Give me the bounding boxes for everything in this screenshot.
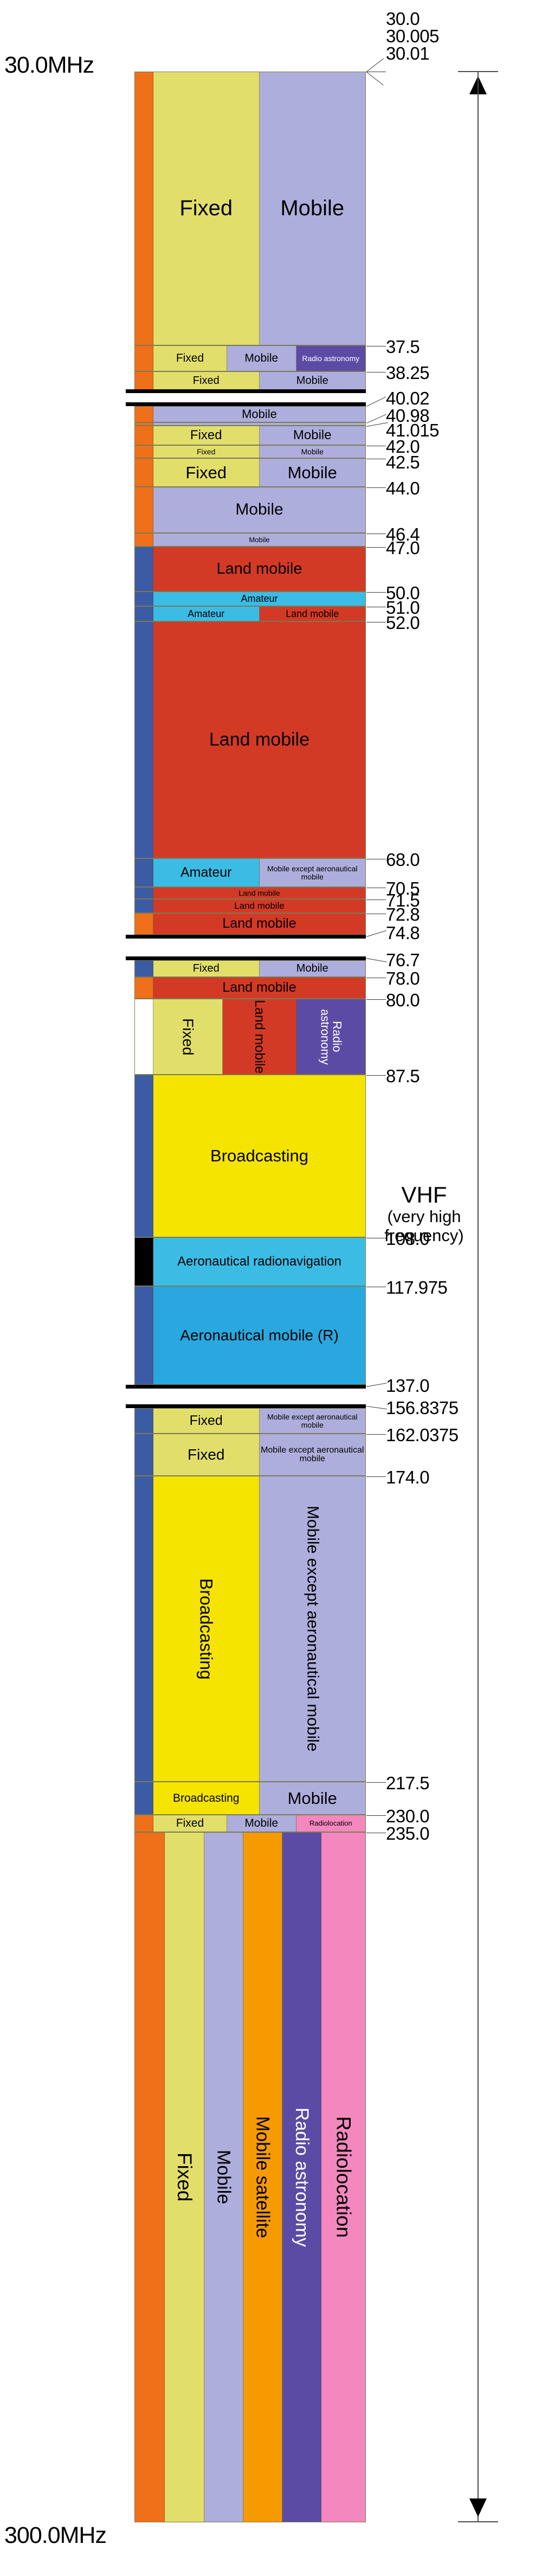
band-cell-land-mobile: Land mobile: [153, 900, 365, 913]
band-cell-land-mobile: Land mobile: [153, 914, 365, 934]
band-marker: [135, 1815, 153, 1832]
band-235.0-300.0[interactable]: Fixed Mobile Mobile satellite Radio astr…: [134, 1832, 366, 2522]
band-cell-aeronautical-radionavigation: Aeronautical radionavigation: [153, 1238, 365, 1286]
band-cell-broadcasting: Broadcasting: [153, 1476, 260, 1781]
band-cell-mobile: Mobile: [153, 534, 365, 546]
tick-leader: [366, 978, 386, 978]
tick-156.8375: 156.8375: [386, 1398, 459, 1418]
tick-leader: [366, 958, 387, 962]
band-cell-mobile: Mobile: [260, 72, 366, 345]
vhf-bracket-label: VHF (very high frequency): [374, 1182, 474, 1245]
band-cell-land-mobile: Land mobile: [153, 978, 365, 998]
tick-leader: [366, 1383, 387, 1387]
band-78.0-80.0[interactable]: Land mobile: [134, 977, 366, 999]
band-cell-mobile: Mobile: [260, 1782, 366, 1814]
band-cell-land-mobile: Land mobile: [153, 547, 365, 591]
tick-leader: [366, 346, 386, 346]
band-cell-radio-astronomy: Radio astronomy: [296, 346, 366, 371]
tick-leader: [366, 1815, 386, 1816]
band-46.4-47.0[interactable]: Mobile: [134, 533, 366, 547]
band-87.5-108.0[interactable]: Broadcasting: [134, 1075, 366, 1237]
band-cell-fixed: Fixed: [153, 999, 223, 1074]
tick-leader: [366, 534, 386, 534]
band-42.5-44.0[interactable]: Fixed Mobile: [134, 458, 366, 487]
tick-76.7: 76.7: [386, 950, 420, 971]
tick-leader: [366, 930, 386, 937]
band-cell-fixed: Fixed: [153, 426, 260, 445]
band-marker: [135, 372, 153, 390]
band-162.0375-174.0[interactable]: Fixed Mobile except aeronautical mobile: [134, 1434, 366, 1476]
tick-117.975: 117.975: [386, 1277, 447, 1298]
band-cell-mobile: Mobile: [260, 372, 366, 390]
tick-leader: [366, 58, 384, 72]
tick-38.25: 38.25: [386, 363, 429, 383]
band-cell-mobile: Mobile: [227, 346, 296, 371]
tick-leader: [366, 1476, 386, 1477]
tick-47.0: 47.0: [386, 538, 420, 558]
band-marker: [135, 423, 153, 425]
band-42.0-42.5[interactable]: Fixed Mobile: [134, 445, 366, 458]
band-cell-mobile-satellite: Mobile satellite: [243, 1833, 282, 2522]
band-cell-radiolocation: Radiolocation: [321, 1833, 365, 2522]
band-group-divider: [126, 1404, 366, 1408]
band-cell-land-mobile: Land mobile: [260, 607, 366, 621]
tick-217.5: 217.5: [386, 1773, 429, 1794]
band-cell-mobile: Mobile: [227, 1815, 296, 1832]
band-30.005-37.5[interactable]: Fixed Mobile: [134, 72, 366, 345]
band-marker: [135, 1287, 153, 1384]
band-marker: [135, 1409, 153, 1433]
band-marker: [135, 900, 153, 913]
band-marker: [135, 487, 153, 532]
vhf-abbreviation: VHF: [374, 1182, 474, 1207]
band-cell-mobile: Mobile: [204, 1833, 243, 2522]
axis-top-label: 30.0MHz: [4, 52, 94, 79]
band-cell-mobile: [153, 423, 365, 425]
tick-leader: [366, 1434, 386, 1435]
tick-30.01: 30.01: [386, 43, 429, 64]
tick-leader: [366, 1833, 386, 1833]
band-marker: [135, 407, 153, 422]
band-cell-radiolocation: Radiolocation: [296, 1815, 366, 1832]
tick-78.0: 78.0: [386, 968, 420, 989]
tick-68.0: 68.0: [386, 850, 420, 870]
band-cell-fixed: Fixed: [153, 1409, 260, 1433]
vhf-full-name: (very high frequency): [374, 1207, 474, 1245]
tick-leader: [366, 487, 386, 488]
band-41.015-42.0[interactable]: Fixed Mobile: [134, 426, 366, 445]
tick-leader: [366, 459, 386, 459]
band-marker: [135, 1782, 153, 1814]
tick-leader: [366, 372, 386, 372]
chart-canvas: 30.0MHz 300.0MHz Fixed Mobile Fixed Mobi…: [0, 0, 542, 2576]
tick-leader: [366, 607, 386, 607]
band-cell-fixed: Fixed: [153, 346, 227, 371]
axis-bottom-label: 300.0MHz: [4, 2522, 106, 2549]
tick-137.0: 137.0: [386, 1376, 429, 1396]
band-cell-fixed: Fixed: [153, 459, 260, 486]
band-68.0-70.5[interactable]: Amateur Mobile except aeronautical mobil…: [134, 858, 366, 887]
band-marker: [135, 622, 153, 858]
tick-80.0: 80.0: [386, 990, 420, 1011]
band-marker: [135, 459, 153, 486]
band-marker: [135, 426, 153, 445]
band-cell-broadcasting: Broadcasting: [153, 1782, 260, 1814]
band-230.0-235.0[interactable]: Fixed Mobile Radiolocation: [134, 1815, 366, 1832]
tick-leader: [366, 1406, 387, 1409]
band-108.0-117.975[interactable]: Aeronautical radionavigation: [134, 1237, 366, 1286]
tick-72.8: 72.8: [386, 904, 420, 925]
tick-leader: [366, 446, 386, 446]
band-38.25-40.02[interactable]: Fixed Mobile: [134, 371, 366, 390]
band-cell-fixed: Fixed: [153, 446, 260, 458]
tick-leader: [366, 422, 388, 427]
band-marker: [135, 888, 153, 898]
band-cell-fixed: Fixed: [153, 961, 260, 977]
band-cell-land-mobile: Land mobile: [153, 622, 365, 858]
tick-leader: [366, 396, 386, 406]
band-51.0-52.0[interactable]: Amateur Land mobile: [134, 606, 366, 621]
band-group-divider: [126, 1385, 366, 1389]
band-cell-mobile: Mobile: [260, 426, 366, 445]
tick-leader: [366, 72, 386, 72]
band-cell-amateur: Amateur: [153, 859, 260, 886]
band-217.5-230.0[interactable]: Broadcasting Mobile: [134, 1782, 366, 1815]
band-cell-mobile: Mobile: [260, 446, 366, 458]
band-marker: [135, 961, 153, 977]
band-marker: [135, 999, 153, 1074]
band-cell-mobile: Mobile: [260, 459, 366, 486]
tick-leader: [366, 914, 386, 914]
tick-leader: [366, 592, 386, 593]
band-cell-mobile-except-aeronautical: Mobile except aeronautical mobile: [260, 1476, 366, 1781]
band-cell-land-mobile: Land mobile: [153, 888, 365, 898]
band-cell-mobile: Mobile: [260, 961, 366, 977]
band-marker: [135, 607, 153, 621]
tick-174.0: 174.0: [386, 1467, 429, 1488]
band-cell-mobile-except-aeronautical: Mobile except aeronautical mobile: [260, 1409, 366, 1433]
band-group-divider: [126, 956, 366, 960]
bracket-cap-bottom: [458, 2521, 498, 2522]
band-cell-amateur: Amateur: [153, 592, 365, 606]
band-marker: [135, 534, 153, 546]
arrow-down-icon: [469, 2498, 487, 2517]
band-cell-radio-astronomy: Radio astronomy: [282, 1833, 321, 2522]
band-70.5-71.5[interactable]: Land mobile: [134, 887, 366, 899]
band-76.7-78.0[interactable]: Fixed Mobile: [134, 960, 366, 977]
tick-leader: [366, 999, 386, 1000]
tick-leader: [366, 622, 386, 622]
band-40.02-40.98[interactable]: Mobile: [134, 406, 366, 422]
tick-leader: [366, 900, 386, 900]
band-80.0-87.5[interactable]: Fixed Land mobile Radio astronomy: [134, 999, 366, 1075]
tick-leader: [366, 1782, 386, 1783]
band-group-divider: [126, 402, 366, 406]
band-cell-amateur: Amateur: [153, 607, 260, 621]
band-cell-broadcasting: Broadcasting: [153, 1075, 365, 1237]
tick-leader: [366, 547, 386, 548]
band-group-divider: [126, 935, 366, 939]
band-marker: [135, 978, 153, 998]
tick-44.0: 44.0: [386, 478, 420, 499]
band-cell-fixed: Fixed: [165, 1833, 204, 2522]
band-cell-mobile: Mobile: [153, 487, 365, 532]
band-marker: [135, 1833, 165, 2522]
band-174.0-217.5[interactable]: Broadcasting Mobile except aeronautical …: [134, 1476, 366, 1782]
band-47.0-50.0[interactable]: Land mobile: [134, 547, 366, 592]
band-50.0-51.0[interactable]: Amateur: [134, 592, 366, 606]
band-group-divider: [126, 389, 366, 393]
band-marker: [135, 859, 153, 886]
band-156.8375-162.0375[interactable]: Fixed Mobile except aeronautical mobile: [134, 1408, 366, 1434]
band-cell-radio-astronomy: Radio astronomy: [296, 999, 366, 1074]
tick-42.5: 42.5: [386, 452, 420, 473]
band-cell-mobile: Mobile: [153, 407, 365, 422]
band-marker: [135, 72, 153, 345]
tick-52.0: 52.0: [386, 613, 420, 633]
band-71.5-72.8[interactable]: Land mobile: [134, 899, 366, 913]
tick-leader: [366, 859, 386, 859]
band-cell-fixed: Fixed: [153, 1434, 260, 1475]
tick-leader: [366, 1075, 386, 1076]
band-marker: [135, 592, 153, 606]
tick-leader: [366, 1287, 386, 1287]
band-marker: [135, 346, 153, 371]
tick-235.0: 235.0: [386, 1823, 429, 1844]
tick-87.5: 87.5: [386, 1066, 420, 1087]
tick-leader: [366, 888, 386, 888]
tick-leader: [366, 414, 386, 423]
tick-leader: [366, 72, 383, 85]
band-72.8-74.8[interactable]: Land mobile: [134, 913, 366, 935]
band-marker: [135, 1434, 153, 1475]
band-marker: [135, 914, 153, 934]
band-cell-aeronautical-mobile-r: Aeronautical mobile (R): [153, 1287, 365, 1384]
band-marker: [135, 1075, 153, 1237]
band-cell-fixed: Fixed: [153, 372, 260, 390]
band-cell-land-mobile: Land mobile: [223, 999, 296, 1074]
band-cell-mobile-except-aeronautical: Mobile except aeronautical mobile: [260, 859, 366, 886]
tick-162.0375: 162.0375: [386, 1425, 459, 1446]
band-cell-fixed: Fixed: [153, 1815, 227, 1832]
band-37.5-38.25[interactable]: Fixed Mobile Radio astronomy: [134, 345, 366, 371]
band-marker: [135, 1476, 153, 1781]
band-cell-mobile-except-aeronautical: Mobile except aeronautical mobile: [260, 1434, 366, 1475]
band-marker: [135, 547, 153, 591]
band-44.0-46.4[interactable]: Mobile: [134, 487, 366, 533]
bracket-line: [478, 72, 479, 2522]
band-52.0-68.0[interactable]: Land mobile: [134, 621, 366, 858]
band-marker: [135, 446, 153, 458]
band-cell-fixed: Fixed: [153, 72, 260, 345]
band-marker: [135, 1238, 153, 1286]
band-117.975-137.0[interactable]: Aeronautical mobile (R): [134, 1286, 366, 1385]
tick-37.5: 37.5: [386, 337, 420, 357]
tick-74.8: 74.8: [386, 923, 420, 943]
